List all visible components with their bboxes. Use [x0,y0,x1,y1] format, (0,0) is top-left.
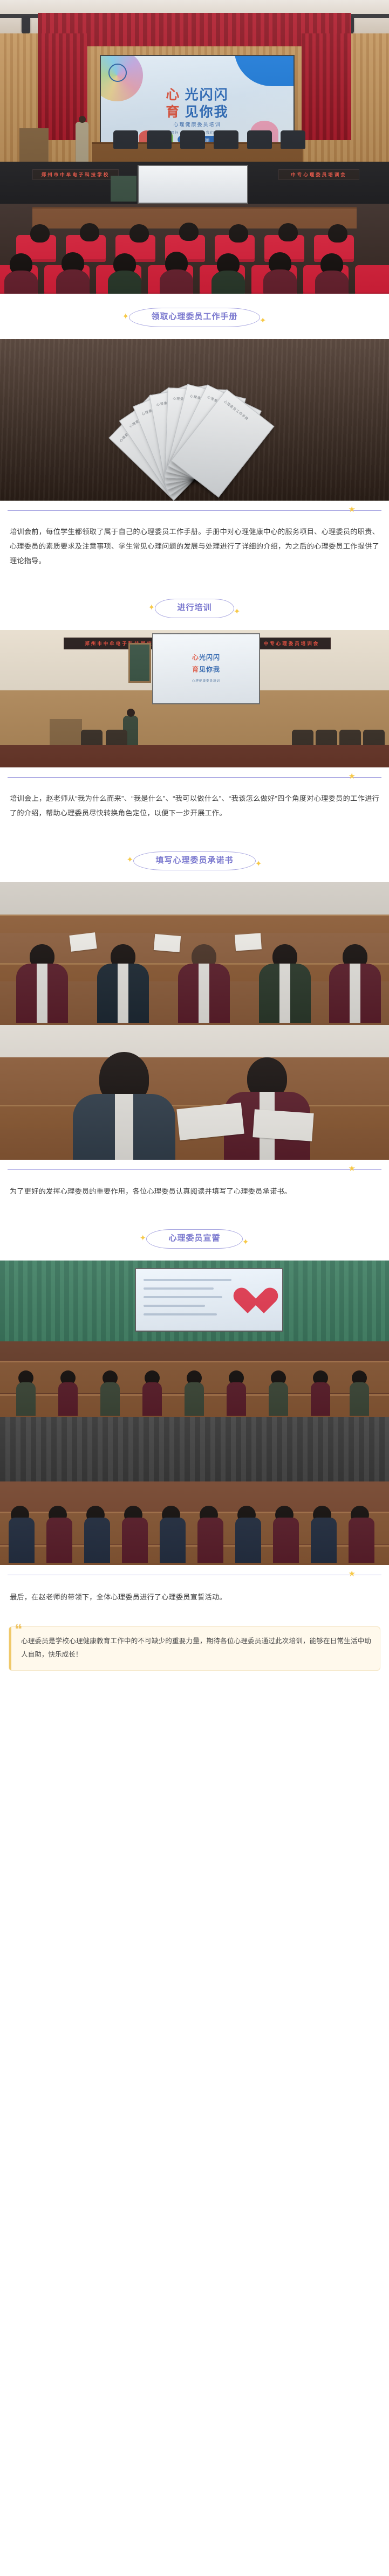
rule-star-icon: ★ [349,1165,356,1173]
star-left-icon: ✦ [148,604,155,612]
star-right-icon: ✦ [255,860,263,868]
star-left-icon: ✦ [122,313,129,321]
star-right-icon: ✦ [260,316,267,324]
photo-speaker-at-lectern-with-slide: 郑州市中牟电子科技学校 中专心理委员培训会 心光闪闪 育见你我 心理健康委员培训 [0,630,389,767]
paragraph-training: 培训会上，赵老师从“我为什么而来”、“我是什么”、“我可以做什么”、“我该怎么做… [0,785,389,830]
photo-hall-with-heart-screen [0,1261,389,1417]
quote-mark-icon: ❝ [15,1623,22,1637]
section-pill: ✦ 进行培训 ✦ [155,599,234,618]
section-title-text: 领取心理委员工作手册 [151,312,237,321]
photo-students-writing-at-desks-wide [0,882,389,1025]
section-title-text: 进行培训 [177,603,211,612]
closing-note-wrapper: ❝ 心理委员是学校心理健康教育工作中的不可缺少的重要力量，期待各位心理委员通过此… [0,1621,389,1689]
photo-audience-seated-rows: 郑州市中牟电子科技学校 中专心理委员培训会 [0,162,389,294]
star-right-icon: ✦ [242,1238,250,1246]
section-header-handbook: ✦ 领取心理委员工作手册 ✦ [0,294,389,339]
rule-star-icon: ★ [349,505,356,514]
photo-auditorium-stage-led-screen: 心 光闪闪 育 见你我 心理健康委员培训 携手同行 伴我成长 加入我们 共同成长… [0,0,389,162]
divider-rule: ★ [8,1169,381,1170]
rule-star-icon: ★ [349,772,356,780]
section-header-oath: ✦ 心理委员宣誓 ✦ [0,1215,389,1261]
section-pill: ✦ 心理委员宣誓 ✦ [146,1229,242,1249]
paragraph-filling-form: 为了更好的发挥心理委员的重要作用，各位心理委员认真阅读并填写了心理委员承诺书。 [0,1178,389,1208]
paragraph-handbook: 培训会前，每位学生都领取了属于自己的心理委员工作手册。手册中对心理健康中心的服务… [0,518,389,578]
section-header-training: ✦ 进行培训 ✦ [0,585,389,630]
divider-rule: ★ [8,777,381,778]
wechat-article: 心 光闪闪 育 见你我 心理健康委员培训 携手同行 伴我成长 加入我们 共同成长… [0,0,389,1689]
closing-note-text: 心理委员是学校心理健康教育工作中的不可缺少的重要力量，期待各位心理委员通过此次培… [21,1637,371,1658]
star-right-icon: ✦ [234,608,241,616]
photo-students-standing-oath [0,1417,389,1565]
photo-fan-of-work-handbooks-on-desk: 心理委员工作手册 心理委员工作手册 心理委员工作手册 心理委员工作手册 心理委员… [0,339,389,501]
star-left-icon: ✦ [126,856,134,864]
section-title-text: 心理委员宣誓 [168,1234,220,1243]
section-pill: ✦ 领取心理委员工作手册 ✦ [129,308,260,327]
rule-star-icon: ★ [349,1570,356,1578]
section-pill: ✦ 填写心理委员承诺书 ✦ [133,851,255,871]
section-header-filling-form: ✦ 填写心理委员承诺书 ✦ [0,837,389,883]
paragraph-oath: 最后，在赵老师的带领下，全体心理委员进行了心理委员宣誓活动。 [0,1582,389,1614]
divider-rule: ★ [8,1575,381,1575]
section-title-text: 填写心理委员承诺书 [155,856,233,865]
divider-rule: ★ [8,510,381,511]
star-left-icon: ✦ [139,1234,147,1242]
closing-note: ❝ 心理委员是学校心理健康教育工作中的不可缺少的重要力量，期待各位心理委员通过此… [9,1626,380,1671]
photo-student-writing-closeup [0,1025,389,1160]
